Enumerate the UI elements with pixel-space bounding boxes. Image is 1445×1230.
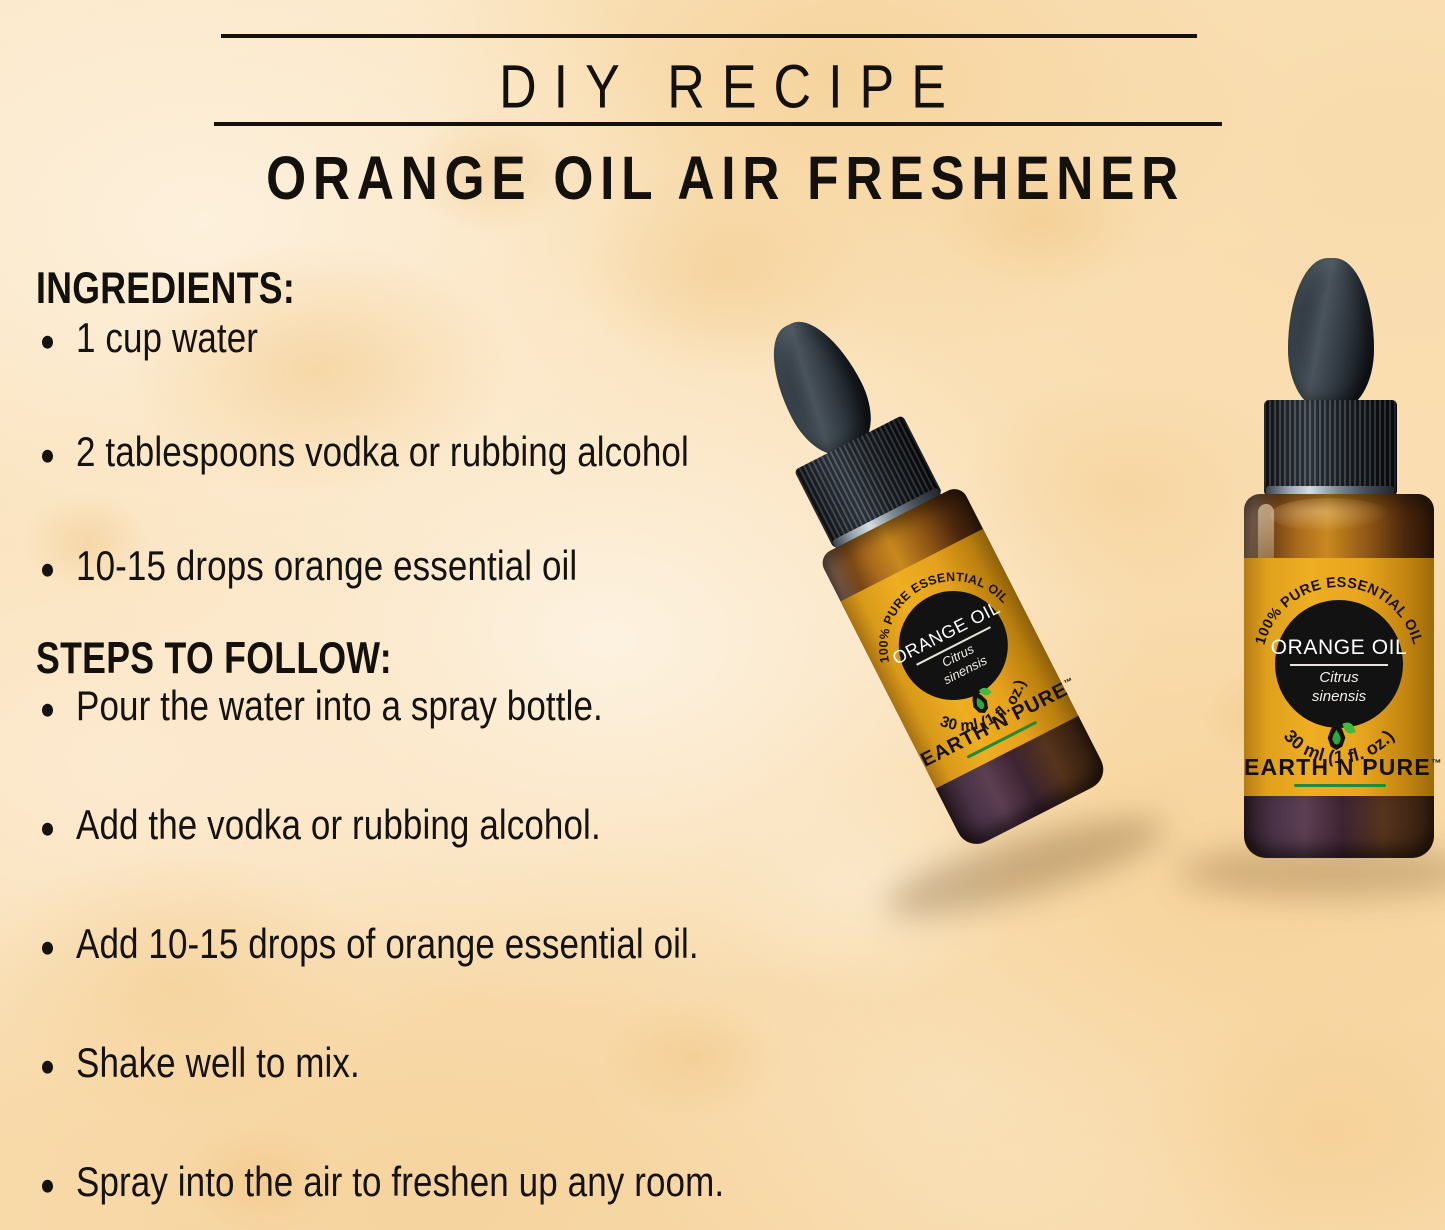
glass-highlight <box>1270 498 1390 532</box>
leaf-drop-logo-icon <box>1326 721 1347 750</box>
recipe-poster: DIY RECIPE ORANGE OIL AIR FRESHENER INGR… <box>0 0 1445 1230</box>
product-name: ORANGE OIL <box>1244 636 1434 660</box>
brand-underline <box>1294 784 1386 787</box>
botanical-name-line2: sinensis <box>1244 689 1434 706</box>
label-divider <box>1290 664 1388 666</box>
dropper-collar <box>1264 400 1397 496</box>
bottle-base <box>1244 796 1434 858</box>
orange-oil-bottle-front: 100% PURE ESSENTIAL OIL 30 ml (1 fl. oz.… <box>770 387 1185 908</box>
orange-oil-bottle-back: 100% PURE ESSENTIAL OIL 30 ml (1 fl. oz.… <box>1222 258 1445 858</box>
product-photo: 100% PURE ESSENTIAL OIL 30 ml (1 fl. oz.… <box>0 0 1445 1230</box>
dropper-bulb-icon <box>1288 258 1374 410</box>
product-label: 100% PURE ESSENTIAL OIL 30 ml (1 fl. oz.… <box>1244 558 1434 798</box>
botanical-name-line1: Citrus <box>1244 670 1434 687</box>
brand-name: EARTH N PURE™ <box>1244 754 1434 781</box>
